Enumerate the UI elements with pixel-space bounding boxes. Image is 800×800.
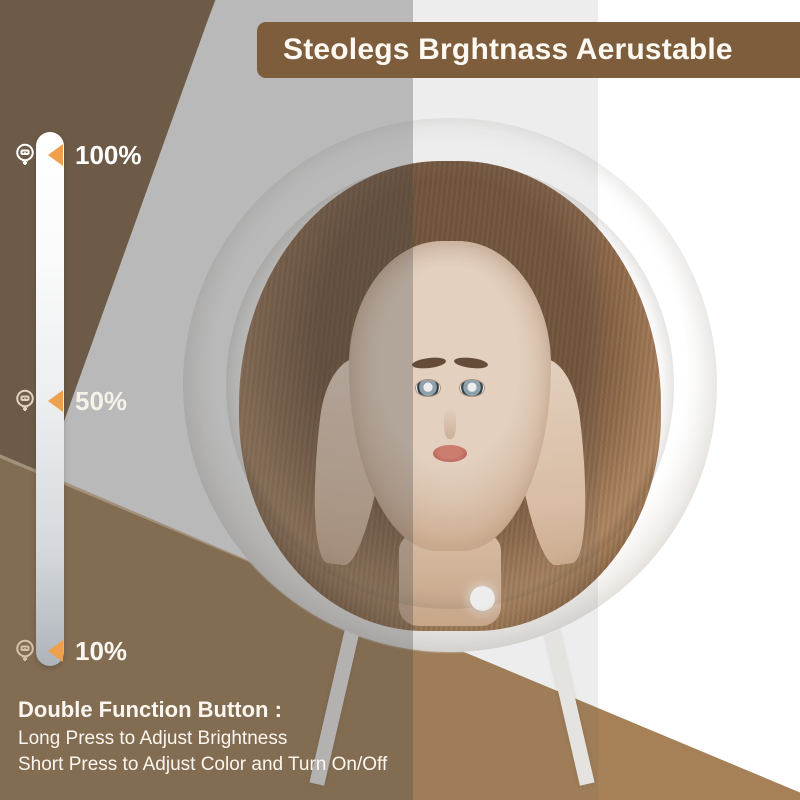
triangle-left-icon bbox=[48, 144, 63, 166]
power-button-icon[interactable] bbox=[470, 586, 495, 611]
page-title: Steolegs Brghtnass Aerustable bbox=[257, 33, 733, 67]
caption-line-2: Short Press to Adjust Color and Turn On/… bbox=[18, 754, 387, 776]
slider-label-100: 100% bbox=[75, 140, 142, 171]
lightbulb-icon bbox=[10, 140, 40, 170]
caption-line-1: Long Press to Adjust Brightness bbox=[18, 728, 387, 750]
lightbulb-icon bbox=[10, 386, 40, 416]
triangle-left-icon bbox=[48, 640, 63, 662]
mirror-inner-shadow bbox=[226, 161, 675, 610]
lightbulb-icon bbox=[10, 636, 40, 666]
ring-light-mirror bbox=[183, 118, 717, 652]
title-banner: Steolegs Brghtnass Aerustable bbox=[257, 22, 800, 78]
slider-mark-100[interactable]: 100% bbox=[10, 136, 142, 174]
slider-mark-10[interactable]: 10% bbox=[10, 632, 127, 670]
product-feature-image: Steolegs Brghtnass Aerustable 100% 50% 1… bbox=[0, 0, 800, 800]
triangle-left-icon bbox=[48, 390, 63, 412]
caption-title: Double Function Button : bbox=[18, 697, 387, 723]
slider-label-50: 50% bbox=[75, 386, 127, 417]
slider-label-10: 10% bbox=[75, 636, 127, 667]
slider-mark-50[interactable]: 50% bbox=[10, 382, 127, 420]
caption-block: Double Function Button : Long Press to A… bbox=[18, 697, 387, 776]
